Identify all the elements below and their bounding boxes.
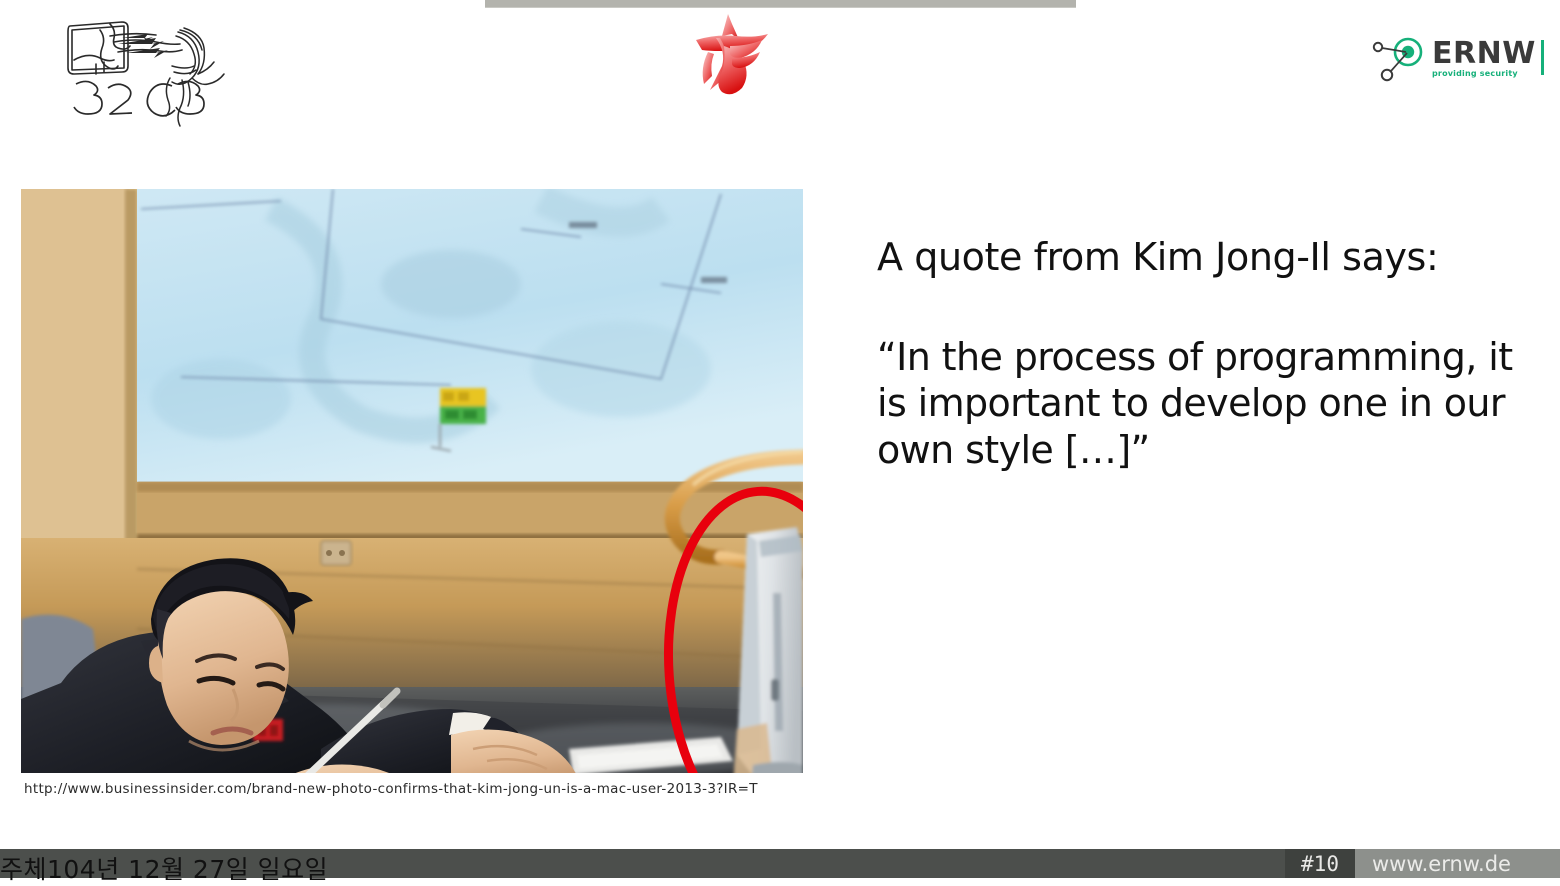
- red-star-os-logo: [672, 8, 784, 108]
- quote-intro-line: A quote from Kim Jong-Il says:: [877, 235, 1547, 280]
- ernw-logo: ERNW providing security: [1370, 30, 1540, 86]
- slide-number-badge: #10: [1285, 849, 1355, 878]
- slide-text-column: A quote from Kim Jong-Il says: “In the p…: [877, 235, 1547, 473]
- 32c3-logo: [52, 8, 232, 128]
- footer-url-label: www.ernw.de: [1355, 849, 1560, 878]
- header-divider: [1541, 40, 1544, 75]
- ernw-name: ERNW: [1432, 39, 1536, 69]
- slide-photo: [21, 189, 803, 773]
- ernw-tagline: providing security: [1432, 70, 1536, 78]
- quote-body-text: “In the process of programming, it is im…: [877, 334, 1547, 473]
- footer-date-label: 주체104년 12월 27일 일요일: [0, 850, 328, 886]
- ernw-wordmark: ERNW providing security: [1432, 39, 1536, 78]
- window-title-strip: [485, 0, 1076, 8]
- ernw-mark-icon: [1370, 32, 1430, 84]
- photo-credit-url: http://www.businessinsider.com/brand-new…: [24, 781, 758, 797]
